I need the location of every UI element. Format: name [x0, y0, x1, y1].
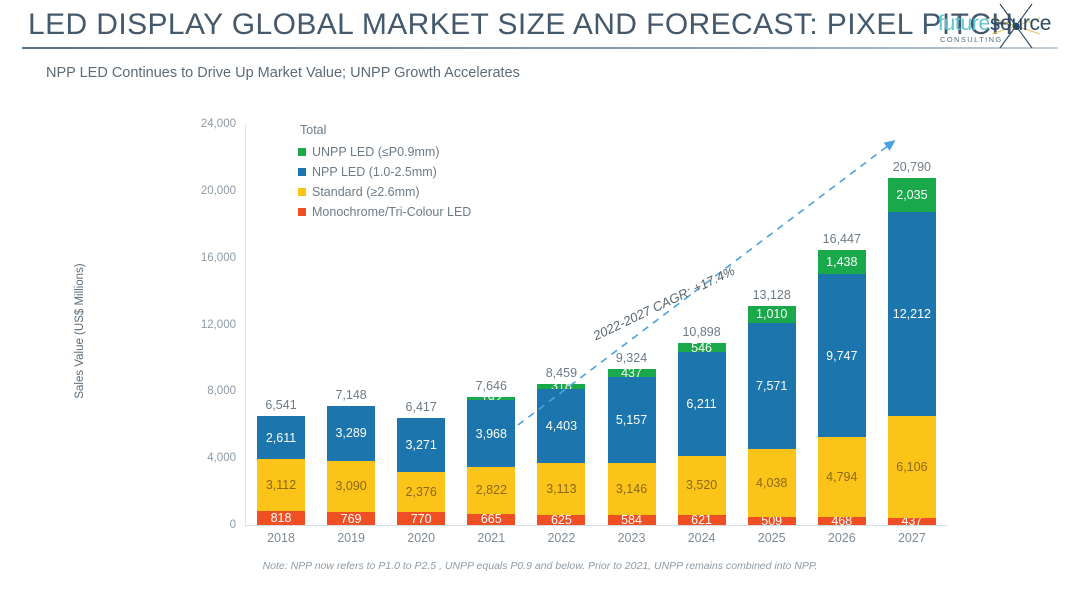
bar-segment[interactable]: 9,747	[818, 274, 866, 437]
logo-word-future: future	[938, 12, 990, 35]
y-axis-tick-label: 8,000	[180, 385, 236, 397]
x-axis-tick-label: 2019	[316, 531, 386, 545]
bar-segment[interactable]: 2,611	[257, 416, 305, 460]
legend-item[interactable]: Standard (≥2.6mm)	[298, 185, 471, 199]
stacked-bar[interactable]: 4684,7949,7471,438	[818, 250, 866, 525]
legend-swatch-icon	[298, 208, 306, 216]
page-title: LED DISPLAY GLOBAL MARKET SIZE AND FOREC…	[28, 8, 1013, 42]
bar-segment[interactable]: 4,794	[818, 437, 866, 517]
y-axis-tick-label: 12,000	[180, 319, 236, 331]
logo-word-source: source	[990, 12, 1051, 35]
bar-segment[interactable]: 3,090	[327, 461, 375, 513]
bar-segment[interactable]: 4,403	[537, 389, 585, 463]
x-axis-tick-label: 2022	[526, 531, 596, 545]
x-axis-tick-label: 2021	[456, 531, 526, 545]
bar-total-label: 6,417	[386, 400, 456, 414]
bar-segment[interactable]: 621	[678, 515, 726, 525]
y-axis-tick-label: 20,000	[180, 185, 236, 197]
legend-item-label: Monochrome/Tri-Colour LED	[312, 205, 471, 219]
bar-segment[interactable]: 625	[537, 515, 585, 525]
legend-item-label: NPP LED (1.0-2.5mm)	[312, 165, 437, 179]
bar-segment[interactable]: 770	[397, 512, 445, 525]
bar-group[interactable]: 4684,7949,7471,43816,4472026	[807, 124, 877, 525]
x-axis-tick-label: 2026	[807, 531, 877, 545]
bar-total-label: 8,459	[526, 366, 596, 380]
bar-segment[interactable]: 468	[818, 517, 866, 525]
y-axis-tick-label: 16,000	[180, 252, 236, 264]
bar-segment[interactable]: 192	[467, 397, 515, 400]
bar-total-label: 16,447	[807, 232, 877, 246]
legend-item[interactable]: UNPP LED (≤P0.9mm)	[298, 145, 471, 159]
y-axis-title: Sales Value (US$ Millions)	[74, 231, 86, 431]
stacked-bar[interactable]: 5094,0387,5711,010	[748, 306, 796, 525]
bar-segment[interactable]: 3,113	[537, 463, 585, 515]
bar-segment[interactable]: 1,438	[818, 250, 866, 274]
x-axis-tick-label: 2018	[246, 531, 316, 545]
bar-group[interactable]: 6213,5206,21154610,8982024	[667, 124, 737, 525]
legend-swatch-icon	[298, 168, 306, 176]
bar-total-label: 20,790	[877, 160, 947, 174]
legend-title: Total	[298, 123, 471, 137]
bar-segment[interactable]: 1,010	[748, 306, 796, 323]
x-axis-tick-label: 2027	[877, 531, 947, 545]
stacked-bar[interactable]: 8183,1122,611	[257, 416, 305, 525]
bar-segment[interactable]: 6,106	[888, 416, 936, 518]
x-axis-tick-label: 2023	[597, 531, 667, 545]
bar-group[interactable]: 6253,1134,4033188,4592022	[526, 124, 596, 525]
slide: LED DISPLAY GLOBAL MARKET SIZE AND FOREC…	[0, 0, 1080, 590]
bar-group[interactable]: 4376,10612,2122,03520,7902027	[877, 124, 947, 525]
bar-segment[interactable]: 3,112	[257, 459, 305, 511]
bar-total-label: 7,646	[456, 379, 526, 393]
bar-segment[interactable]: 3,289	[327, 406, 375, 461]
bar-segment[interactable]: 509	[748, 517, 796, 526]
bar-total-label: 6,541	[246, 398, 316, 412]
legend-item-label: Standard (≥2.6mm)	[312, 185, 420, 199]
page-subtitle: NPP LED Continues to Drive Up Market Val…	[46, 65, 520, 81]
legend-swatch-icon	[298, 148, 306, 156]
header-divider	[22, 47, 1058, 49]
y-axis-tick-label: 4,000	[180, 452, 236, 464]
bar-segment[interactable]: 2,035	[888, 178, 936, 212]
bar-segment[interactable]: 3,271	[397, 418, 445, 473]
bar-segment[interactable]: 437	[888, 518, 936, 525]
bar-total-label: 7,148	[316, 388, 386, 402]
legend-item[interactable]: Monochrome/Tri-Colour LED	[298, 205, 471, 219]
bar-segment[interactable]: 5,157	[608, 377, 656, 463]
legend-item-label: UNPP LED (≤P0.9mm)	[312, 145, 440, 159]
bar-total-label: 10,898	[667, 325, 737, 339]
bar-segment[interactable]: 546	[678, 343, 726, 352]
bar-segment[interactable]: 3,968	[467, 400, 515, 466]
stacked-bar[interactable]: 4376,10612,2122,035	[888, 178, 936, 525]
legend-item[interactable]: NPP LED (1.0-2.5mm)	[298, 165, 471, 179]
bar-segment[interactable]: 2,822	[467, 467, 515, 514]
y-axis-tick-label: 24,000	[180, 118, 236, 130]
bar-segment[interactable]: 769	[327, 512, 375, 525]
bar-total-label: 9,324	[597, 351, 667, 365]
stacked-bar[interactable]: 6652,8223,968192	[467, 397, 515, 525]
bar-total-label: 13,128	[737, 288, 807, 302]
logo-tagline: CONSULTING	[940, 35, 1003, 44]
stacked-bar[interactable]: 6253,1134,403318	[537, 384, 585, 525]
bar-segment[interactable]: 6,211	[678, 352, 726, 456]
chart-area: Sales Value (US$ Millions) 04,0008,00012…	[0, 95, 1080, 555]
bar-group[interactable]: 5094,0387,5711,01013,1282025	[737, 124, 807, 525]
x-axis-line	[245, 525, 947, 526]
bar-segment[interactable]: 665	[467, 514, 515, 525]
bar-segment[interactable]: 7,571	[748, 323, 796, 449]
x-axis-tick-label: 2024	[667, 531, 737, 545]
futuresource-logo: futuresource CONSULTING	[938, 4, 1070, 48]
chart-footnote: Note: NPP now refers to P1.0 to P2.5 , U…	[0, 560, 1080, 572]
stacked-bar[interactable]: 6213,5206,211546	[678, 343, 726, 525]
legend-swatch-icon	[298, 188, 306, 196]
y-axis-ticks: 04,0008,00012,00016,00020,00024,000	[180, 95, 236, 535]
bar-segment[interactable]: 584	[608, 515, 656, 525]
stacked-bar[interactable]: 5843,1465,157437	[608, 369, 656, 525]
stacked-bar[interactable]: 7693,0903,289	[327, 406, 375, 525]
bar-segment[interactable]: 3,520	[678, 456, 726, 515]
x-axis-tick-label: 2020	[386, 531, 456, 545]
bar-segment[interactable]: 12,212	[888, 212, 936, 416]
stacked-bar[interactable]: 7702,3763,271	[397, 418, 445, 525]
bar-segment[interactable]: 4,038	[748, 449, 796, 516]
bar-segment[interactable]: 318	[537, 384, 585, 389]
bar-segment[interactable]: 818	[257, 511, 305, 525]
y-axis-tick-label: 0	[180, 519, 236, 531]
bar-segment[interactable]: 2,376	[397, 472, 445, 512]
bar-segment[interactable]: 437	[608, 369, 656, 376]
x-axis-tick-label: 2025	[737, 531, 807, 545]
chart-legend: Total UNPP LED (≤P0.9mm)NPP LED (1.0-2.5…	[298, 123, 471, 225]
bar-segment[interactable]: 3,146	[608, 463, 656, 516]
logo-wordmark: futuresource	[938, 12, 1051, 36]
